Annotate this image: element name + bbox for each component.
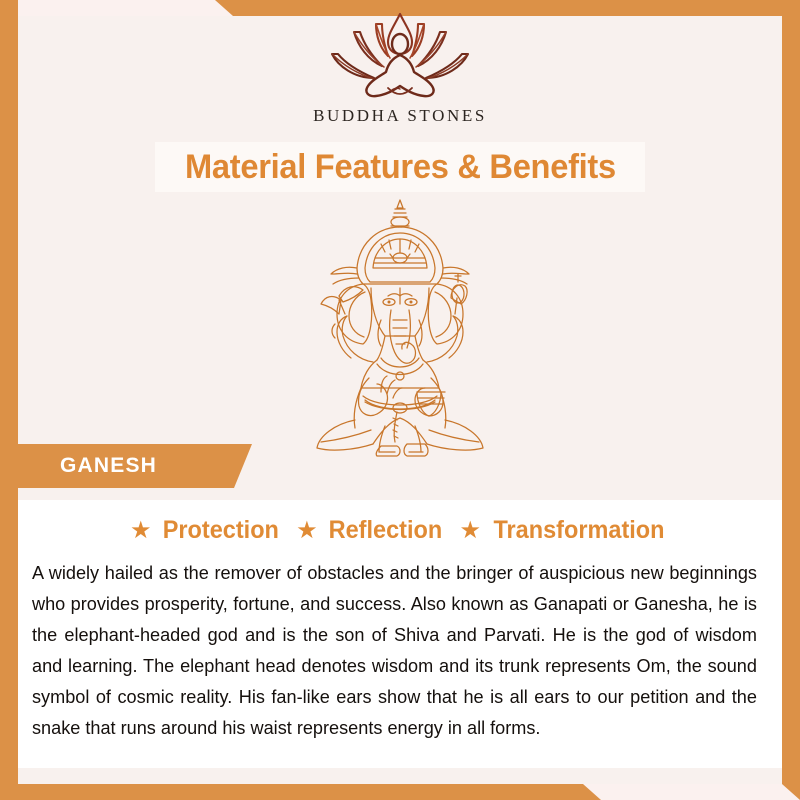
- feature-label: Reflection: [328, 516, 442, 545]
- brand-name: BUDDHA STONES: [313, 106, 487, 126]
- feature-item-protection: ★ Protection: [130, 516, 282, 545]
- star-icon: ★: [130, 519, 152, 543]
- deity-name-banner: GANESH: [0, 444, 252, 488]
- star-icon: ★: [460, 519, 482, 543]
- title-band: Material Features & Benefits: [155, 142, 645, 192]
- infographic-root: BUDDHA STONES Material Features & Benefi…: [0, 0, 800, 800]
- illustration-area: [0, 196, 800, 456]
- brand-logo: BUDDHA STONES: [0, 8, 800, 126]
- description-panel: ★ Protection ★ Reflection ★ Transformati…: [18, 500, 782, 768]
- feature-item-reflection: ★ Reflection: [296, 516, 445, 545]
- feature-item-transformation: ★ Transformation: [460, 516, 671, 545]
- feature-label: Protection: [162, 516, 278, 545]
- star-icon: ★: [296, 519, 318, 543]
- lotus-meditation-icon: [314, 8, 486, 104]
- bottom-accent-band: [0, 784, 800, 800]
- page-title: Material Features & Benefits: [185, 148, 616, 187]
- feature-label: Transformation: [493, 516, 664, 545]
- feature-list: ★ Protection ★ Reflection ★ Transformati…: [18, 500, 782, 545]
- deity-name-label: GANESH: [60, 454, 157, 478]
- ganesh-line-art-icon: [285, 196, 515, 458]
- description-text: A widely hailed as the remover of obstac…: [32, 557, 757, 743]
